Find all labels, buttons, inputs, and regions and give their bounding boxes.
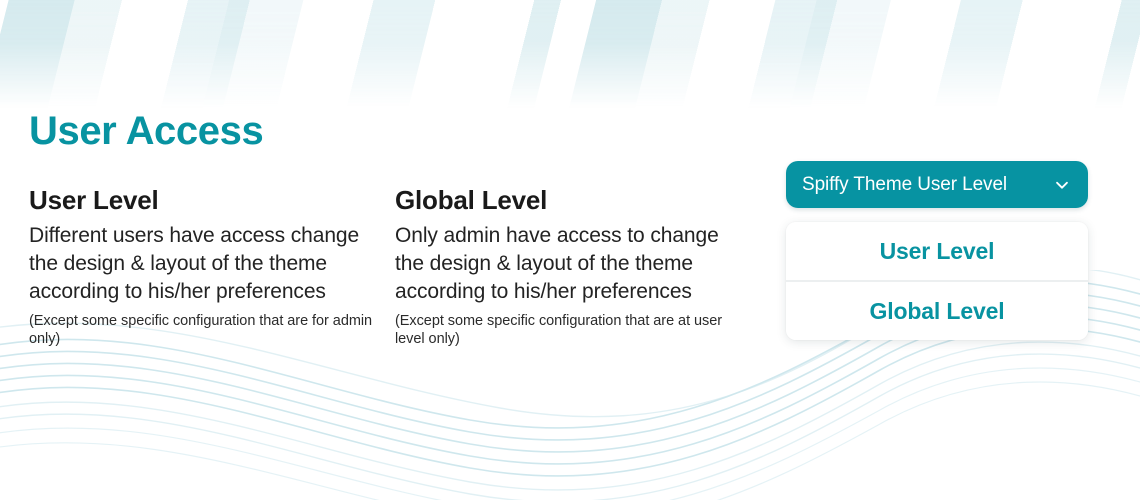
theme-level-dropdown: Spiffy Theme User Level User Level Globa… [786, 161, 1088, 208]
column-heading: User Level [29, 184, 381, 216]
dropdown-option-global-level[interactable]: Global Level [786, 280, 1088, 340]
column-note-text: (Except some specific configuration that… [29, 312, 381, 348]
slide-content: User Access User Level Different users h… [0, 0, 1140, 500]
dropdown-option-user-level[interactable]: User Level [786, 222, 1088, 280]
dropdown-menu: User Level Global Level [786, 222, 1088, 340]
column-body-text: Different users have access change the d… [29, 222, 381, 306]
dropdown-option-label: User Level [880, 238, 995, 265]
slide-canvas: User Access User Level Different users h… [0, 0, 1140, 500]
column-user-level: User Level Different users have access c… [29, 184, 381, 348]
page-title: User Access [29, 108, 263, 154]
dropdown-toggle-button[interactable]: Spiffy Theme User Level [786, 161, 1088, 208]
chevron-down-icon [1053, 176, 1071, 194]
column-body-text: Only admin have access to change the des… [395, 222, 747, 306]
column-heading: Global Level [395, 184, 747, 216]
column-global-level: Global Level Only admin have access to c… [395, 184, 747, 348]
dropdown-selected-label: Spiffy Theme User Level [802, 174, 1007, 196]
dropdown-option-label: Global Level [870, 298, 1005, 325]
column-note-text: (Except some specific configuration that… [395, 312, 747, 348]
